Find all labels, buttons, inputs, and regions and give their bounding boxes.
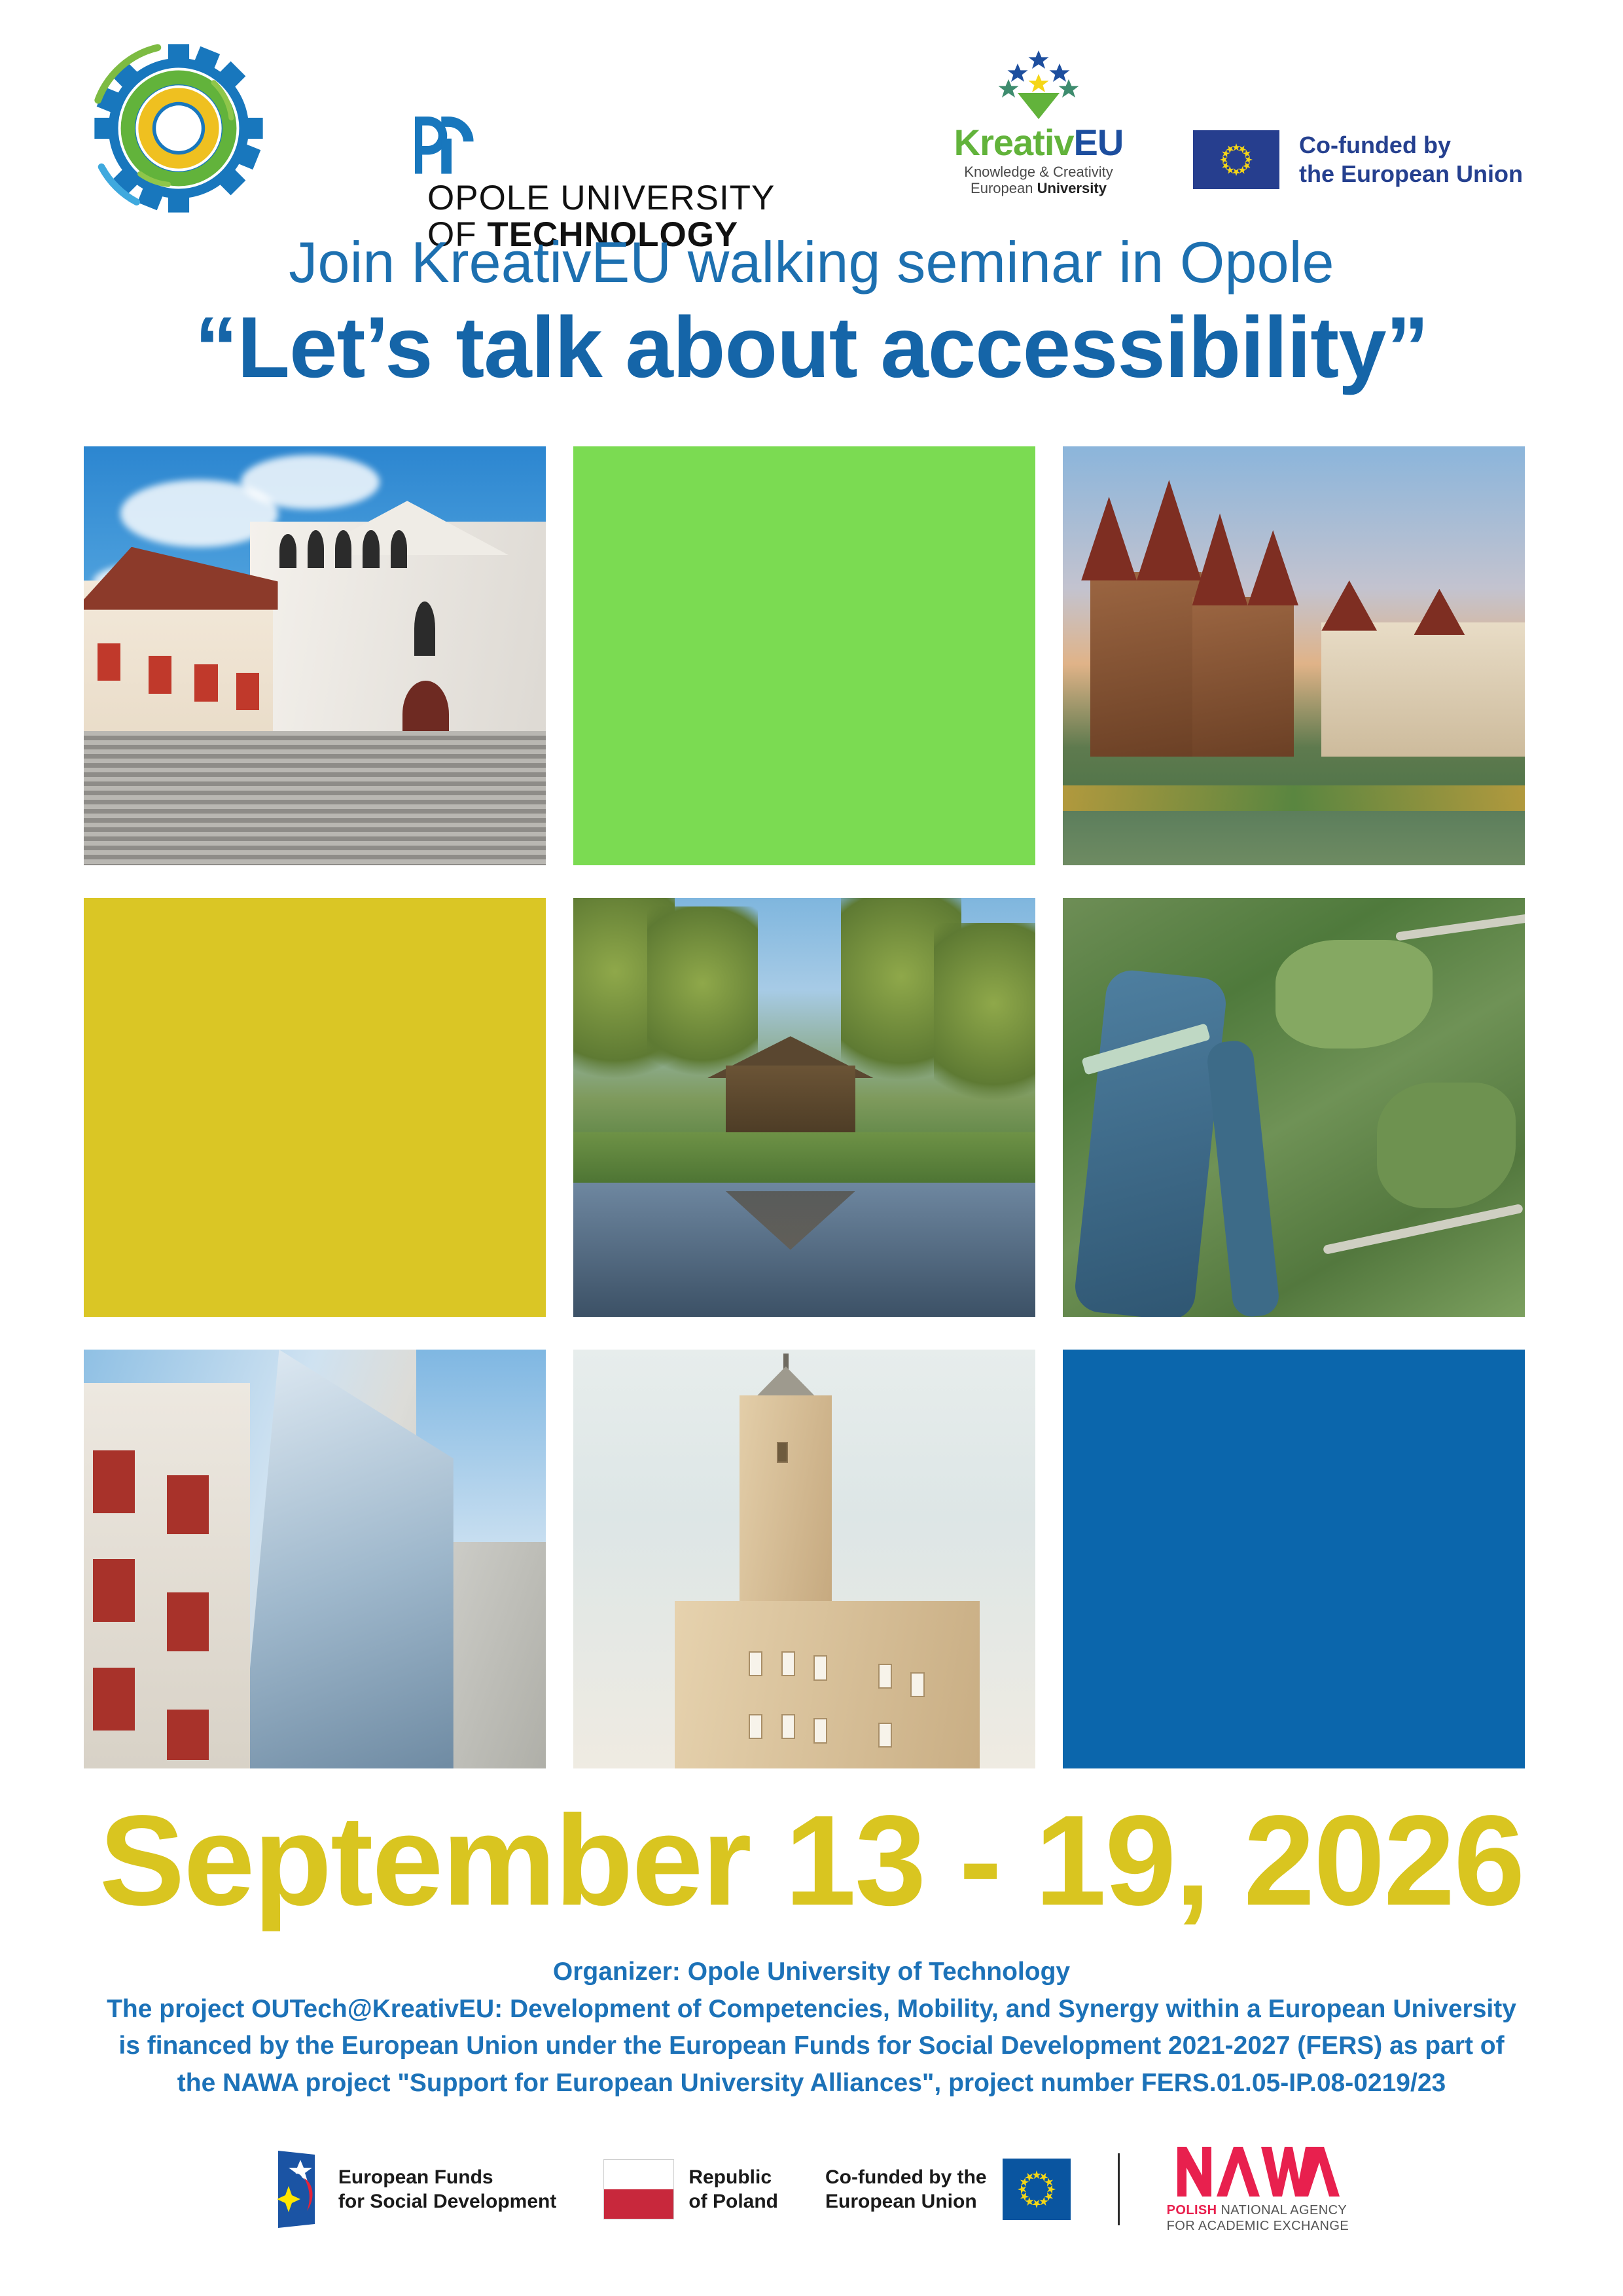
blue-color-block	[1063, 1350, 1525, 1768]
poster-canvas: OPOLE UNIVERSITY OF TECHNOLOGY KreativEU…	[0, 0, 1623, 2296]
page-title: “Let’s talk about accessibility”	[0, 298, 1623, 397]
aerial-river-park-photo	[1063, 898, 1525, 1317]
kreativeu-wordmark: KreativEU	[954, 124, 1124, 161]
eu-cofunded-footer-logo: Co-funded by the European Union	[825, 2159, 1071, 2220]
funding-line-1: Organizer: Opole University of Technolog…	[79, 1954, 1544, 1991]
nawa-wordmark-icon	[1176, 2145, 1340, 2198]
republic-of-poland-logo: Republic of Poland	[603, 2159, 778, 2219]
nawa-subtitle: POLISH NATIONAL AGENCY FOR ACADEMIC EXCH…	[1167, 2202, 1349, 2234]
church-and-steps-photo	[84, 446, 546, 865]
european-funds-icon	[274, 2148, 324, 2231]
funding-line-2: The project OUTech@KreativEU: Developmen…	[79, 1991, 1544, 2028]
nawa-logo: POLISH NATIONAL AGENCY FOR ACADEMIC EXCH…	[1167, 2145, 1349, 2234]
eu-caption-line2: the European Union	[1299, 160, 1523, 187]
eu-cofunded-caption: Co-funded by the European Union	[1299, 131, 1523, 188]
eu-cofunded-logo: Co-funded by the European Union	[1193, 124, 1546, 195]
footer-logo-row: European Funds for Social Development Re…	[0, 2130, 1623, 2248]
kreativeu-stars-icon	[980, 46, 1097, 123]
funding-line-4: the NAWA project "Support for European U…	[79, 2065, 1544, 2102]
glass-modern-building-photo	[84, 1350, 546, 1768]
opole-university-logo: OPOLE UNIVERSITY OF TECHNOLOGY	[409, 103, 906, 182]
outech-monogram-icon	[409, 103, 482, 177]
open-air-museum-pond-photo	[573, 898, 1035, 1317]
kreativeu-logo: KreativEU Knowledge & Creativity Europea…	[950, 46, 1127, 213]
header-logo-row: OPOLE UNIVERSITY OF TECHNOLOGY KreativEU…	[0, 26, 1623, 190]
opole-town-hall-photo	[573, 1350, 1035, 1768]
event-date: September 13 - 19, 2026	[0, 1787, 1623, 1934]
photo-grid	[84, 446, 1527, 1768]
yellow-color-block	[84, 898, 546, 1317]
kreativeu-tagline-line1: Knowledge & Creativity	[964, 164, 1113, 180]
seminar-kicker: Join KreativEU walking seminar in Opole	[0, 229, 1623, 296]
eu-flag-footer-icon	[1003, 2159, 1071, 2220]
kreativeu-tagline: Knowledge & Creativity European Universi…	[964, 164, 1113, 196]
poland-flag-icon	[603, 2159, 674, 2219]
eu-caption-line1: Co-funded by	[1299, 132, 1451, 158]
republic-of-poland-caption: Republic of Poland	[688, 2165, 778, 2214]
moszna-castle-photo	[1063, 446, 1525, 865]
european-funds-logo: European Funds for Social Development	[274, 2148, 556, 2231]
footer-divider	[1118, 2153, 1120, 2225]
outech-gear-logo	[84, 41, 274, 216]
funding-statement: Organizer: Opole University of Technolog…	[79, 1954, 1544, 2102]
university-name-line1: OPOLE UNIVERSITY	[427, 180, 906, 217]
european-funds-caption: European Funds for Social Development	[338, 2165, 556, 2214]
eu-cofunded-footer-caption: Co-funded by the European Union	[825, 2165, 987, 2214]
green-color-block	[573, 446, 1035, 865]
funding-line-3: is financed by the European Union under …	[79, 2028, 1544, 2065]
eu-flag-icon	[1193, 130, 1279, 189]
